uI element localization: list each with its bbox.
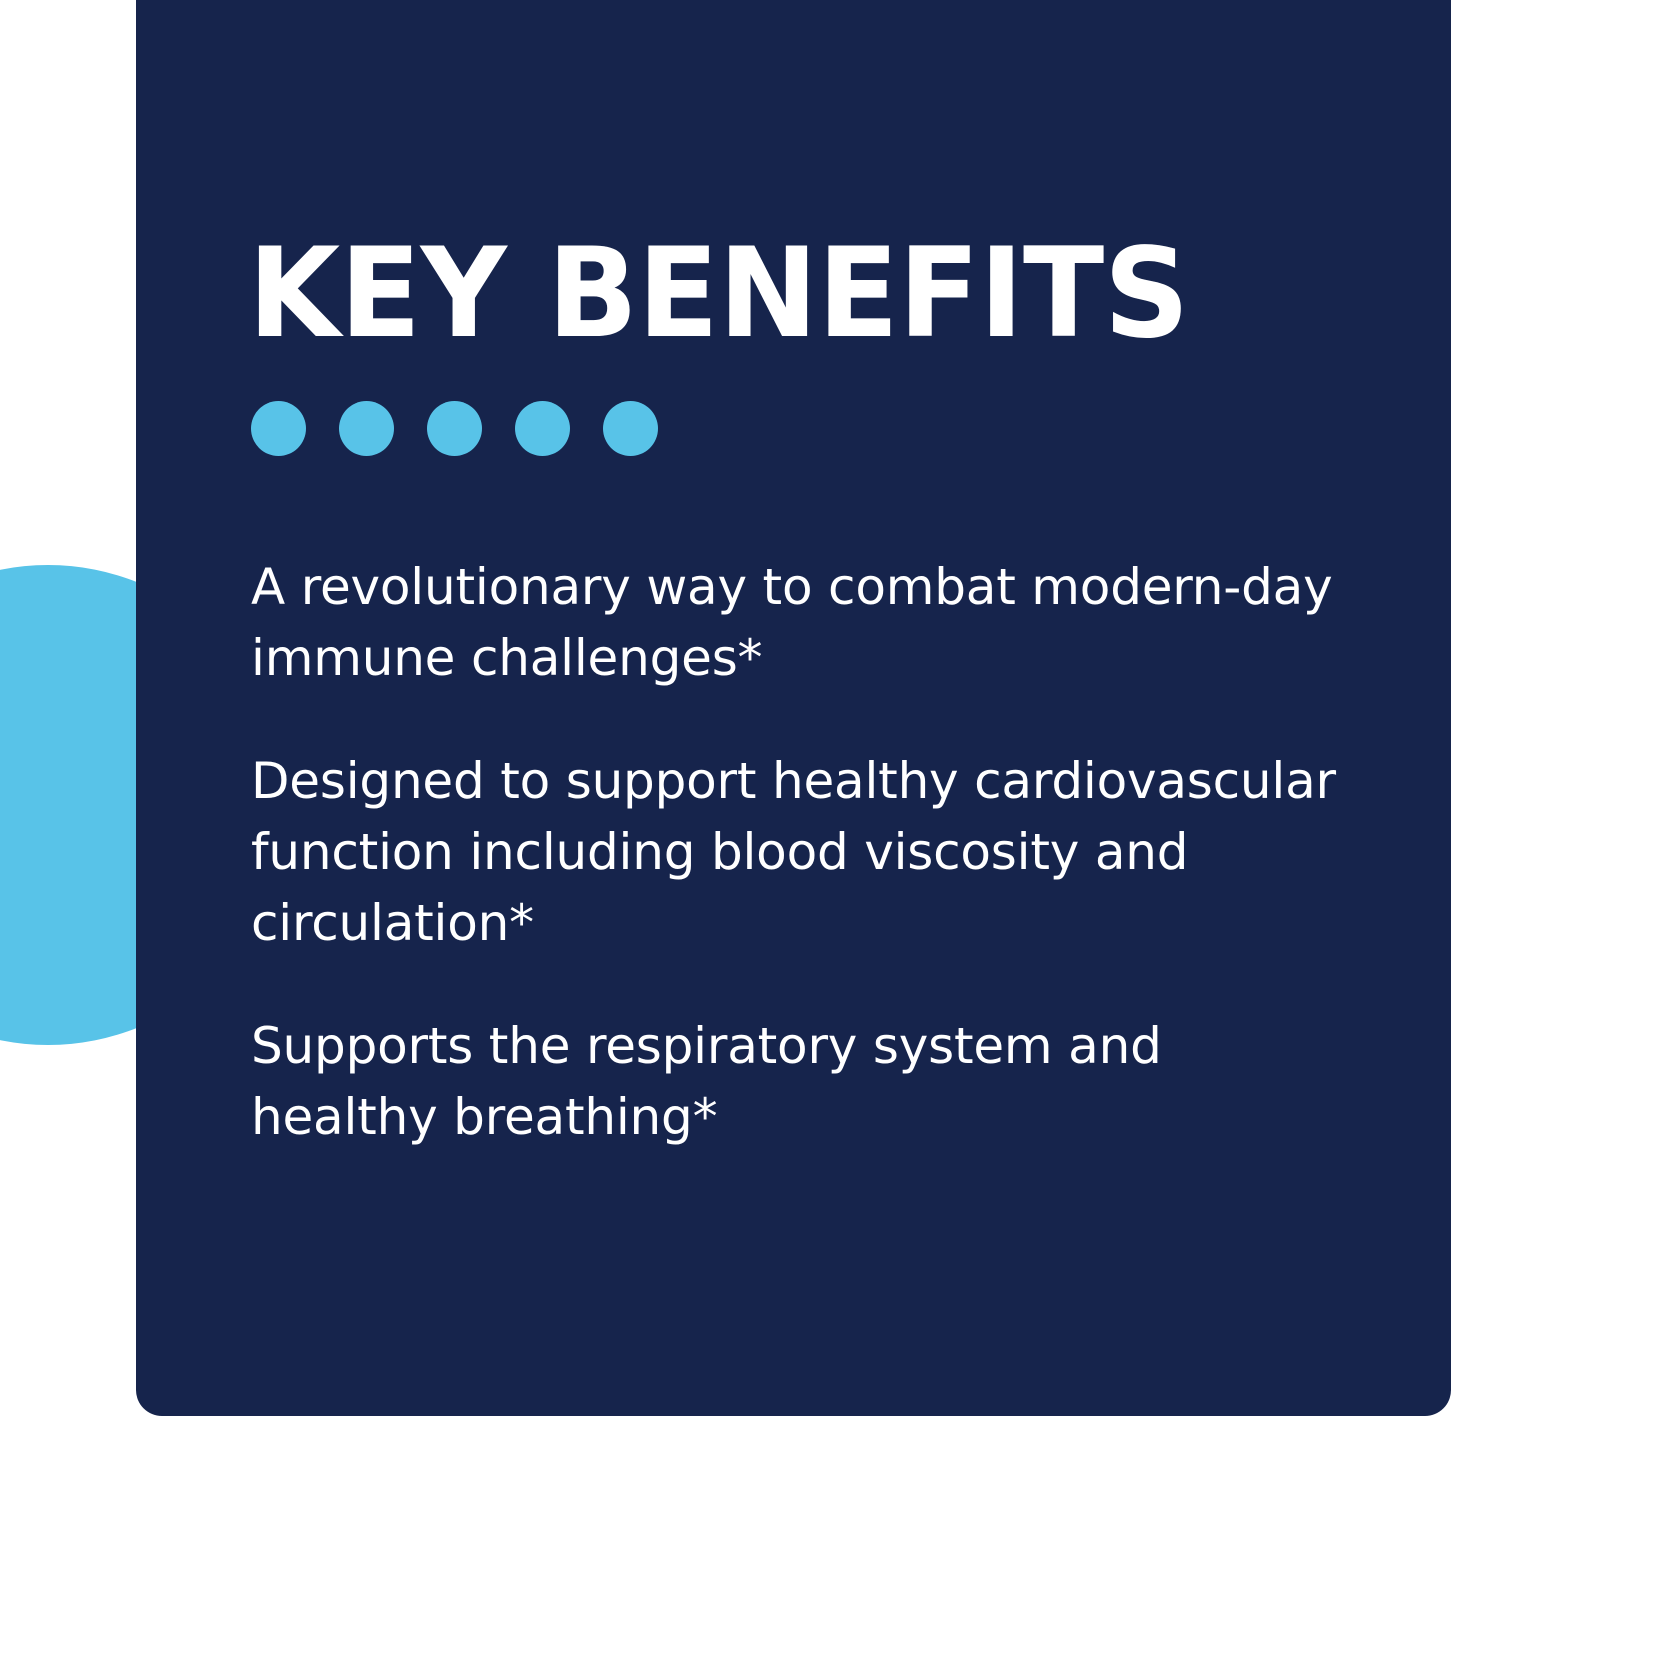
benefit-item: Supports the respiratory system and heal…	[251, 1011, 1361, 1153]
promo-graphic: KEY BENEFITS A revolutionary way to comb…	[0, 0, 1680, 1680]
benefit-item: A revolutionary way to combat modern-day…	[251, 552, 1361, 694]
key-benefits-card: KEY BENEFITS A revolutionary way to comb…	[136, 0, 1451, 1416]
divider-dot-2	[339, 401, 394, 456]
benefits-list: A revolutionary way to combat modern-day…	[251, 552, 1361, 1153]
divider-dot-5	[603, 401, 658, 456]
divider-dot-4	[515, 401, 570, 456]
divider-dot-1	[251, 401, 306, 456]
page-title: KEY BENEFITS	[248, 232, 1189, 356]
divider-dot-3	[427, 401, 482, 456]
benefit-item: Designed to support healthy cardiovascul…	[251, 746, 1361, 959]
card-content: KEY BENEFITS A revolutionary way to comb…	[248, 0, 1391, 1416]
dot-divider	[251, 401, 658, 456]
